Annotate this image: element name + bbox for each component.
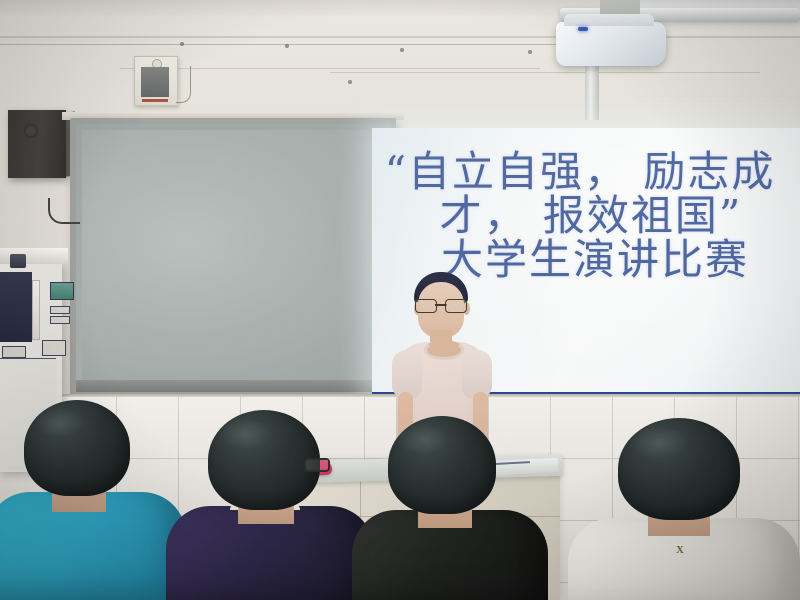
classroom-photo: “自立自强， 励志成 才， 报效祖国” 大学生演讲比赛	[0, 0, 800, 600]
audience-hair	[618, 418, 740, 520]
whiteboard	[70, 118, 396, 398]
wall-mark	[180, 42, 184, 46]
wall-seam	[0, 36, 800, 38]
glasses-lens	[415, 299, 437, 313]
whiteboard-surface	[82, 130, 384, 380]
cabinet-button[interactable]	[50, 316, 70, 324]
cabinet-cable	[48, 198, 80, 224]
slide-line-2: 才， 报效祖国”	[372, 194, 792, 238]
wall-speaker	[8, 110, 66, 178]
presenter-glasses-icon	[415, 299, 467, 311]
presenter-sleeve	[462, 350, 492, 398]
wall-mark	[285, 44, 289, 48]
wall-mounted-control-box[interactable]	[134, 56, 178, 106]
audience-hair	[388, 416, 496, 514]
wall-mark	[528, 50, 532, 54]
audience-member-4: X	[566, 418, 800, 600]
audience-member-1	[0, 400, 186, 600]
cabinet-port-panel[interactable]	[42, 340, 66, 356]
wall-crack	[0, 44, 560, 45]
cabinet-button[interactable]	[50, 306, 70, 314]
whiteboard-pen-tray	[76, 380, 390, 392]
speaker-cone-icon	[24, 124, 38, 138]
glasses-lens	[445, 299, 467, 313]
presenter-collar	[424, 340, 464, 360]
cabinet-slot	[32, 280, 40, 340]
audience-hair	[24, 400, 130, 496]
audience-glasses-icon	[304, 458, 330, 472]
cabinet-dark-panel	[0, 272, 32, 342]
audience-member-3	[352, 410, 548, 600]
slide-text-block: “自立自强， 励志成 才， 报效祖国” 大学生演讲比赛	[372, 150, 792, 282]
presenter-sleeve	[392, 350, 422, 398]
wall-crack	[330, 72, 760, 73]
cabinet-button[interactable]	[2, 346, 26, 358]
control-box-panel	[141, 67, 169, 97]
cabinet-latch-icon[interactable]	[10, 254, 26, 268]
cabinet-lcd-screen	[50, 282, 74, 300]
wall-mark	[348, 80, 352, 84]
wall-mark	[400, 48, 404, 52]
audience-member-2	[164, 410, 376, 600]
shirt-logo: X	[676, 544, 684, 556]
slide-line-1: “自立自强， 励志成	[372, 150, 792, 194]
projector-power-led-icon	[578, 27, 588, 31]
projector	[556, 22, 666, 66]
control-box-vent	[142, 99, 168, 102]
control-box-wire	[176, 66, 191, 103]
